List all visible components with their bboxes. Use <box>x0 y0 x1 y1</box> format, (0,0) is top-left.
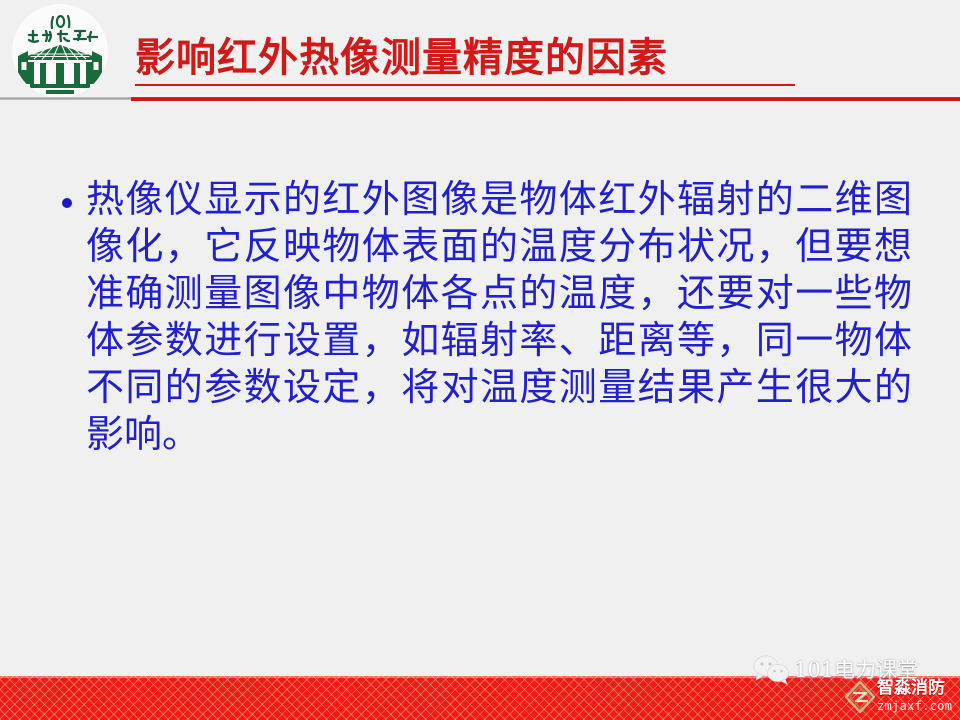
slide-canvas: 影响红外热像测量精度的因素 热像仪显示的红外图像是物体红外辐射的二维图像化，它反… <box>0 0 960 720</box>
bullet-dot-icon <box>62 198 72 208</box>
institution-logo <box>12 4 108 98</box>
slide-header: 影响红外热像测量精度的因素 <box>0 0 960 104</box>
header-divider-gray <box>0 97 131 100</box>
header-divider-red-core <box>131 98 960 101</box>
wechat-icon <box>752 654 790 684</box>
watermark-url: zmjaxf.com <box>877 699 952 713</box>
slide-body: 热像仪显示的红外图像是物体红外辐射的二维图像化，它反映物体表面的温度分布状况，但… <box>62 176 912 458</box>
bullet-text: 热像仪显示的红外图像是物体红外辐射的二维图像化，它反映物体表面的温度分布状况，但… <box>86 176 912 458</box>
page-title: 影响红外热像测量精度的因素 <box>135 38 795 86</box>
list-item: 热像仪显示的红外图像是物体红外辐射的二维图像化，它反映物体表面的温度分布状况，但… <box>62 176 912 458</box>
watermark-name: 智淼消防 <box>877 678 945 698</box>
logo-emblem-icon <box>12 4 108 98</box>
watermark-text: 智淼消防 zmjaxf.com <box>877 680 952 715</box>
zmjaxf-diamond-badge-icon <box>845 681 875 713</box>
site-watermark: 智淼消防 zmjaxf.com <box>845 676 960 718</box>
